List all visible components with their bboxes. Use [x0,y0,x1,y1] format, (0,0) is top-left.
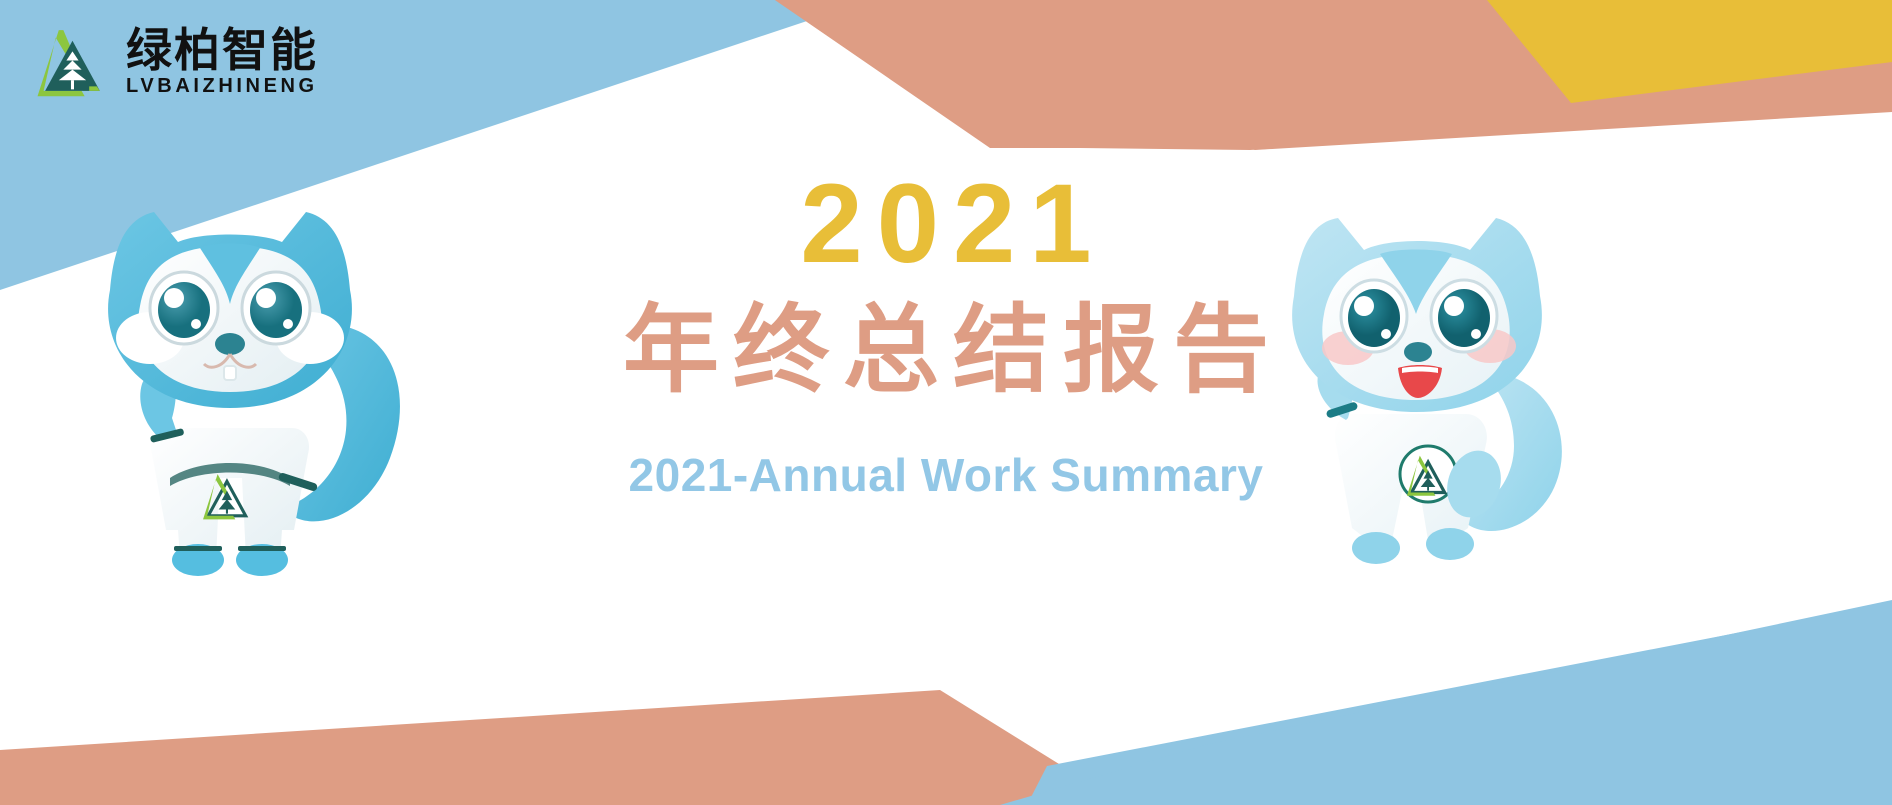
logo-chinese-name: 绿柏智能 [126,27,318,74]
mascot-foot-left [1352,532,1400,564]
logo-pinyin-name: LVBAIZHINENG [126,75,318,97]
pine-tree-triangle-icon [36,24,112,100]
bottom-center-salmon-band [0,690,1125,805]
logo-wordmark: 绿柏智能 LVBAIZHINENG [126,27,318,98]
annual-report-banner: 绿柏智能 LVBAIZHINENG [0,0,1892,805]
squirrel-mascot-right [1252,192,1582,582]
mascot-eye-left [150,272,218,344]
mascot-nose [1404,342,1432,362]
mascot-eye-right [1431,280,1497,352]
mascot-nose [215,333,245,355]
mascot-eye-left [1341,280,1407,352]
mascot-foot-right [1426,528,1474,560]
logo-lockup: 绿柏智能 LVBAIZHINENG [36,24,318,100]
mascot-eye-right [242,272,310,344]
bottom-right-blue-shape [1000,600,1892,805]
squirrel-mascot-left [50,178,410,578]
mascot-body [151,428,309,558]
